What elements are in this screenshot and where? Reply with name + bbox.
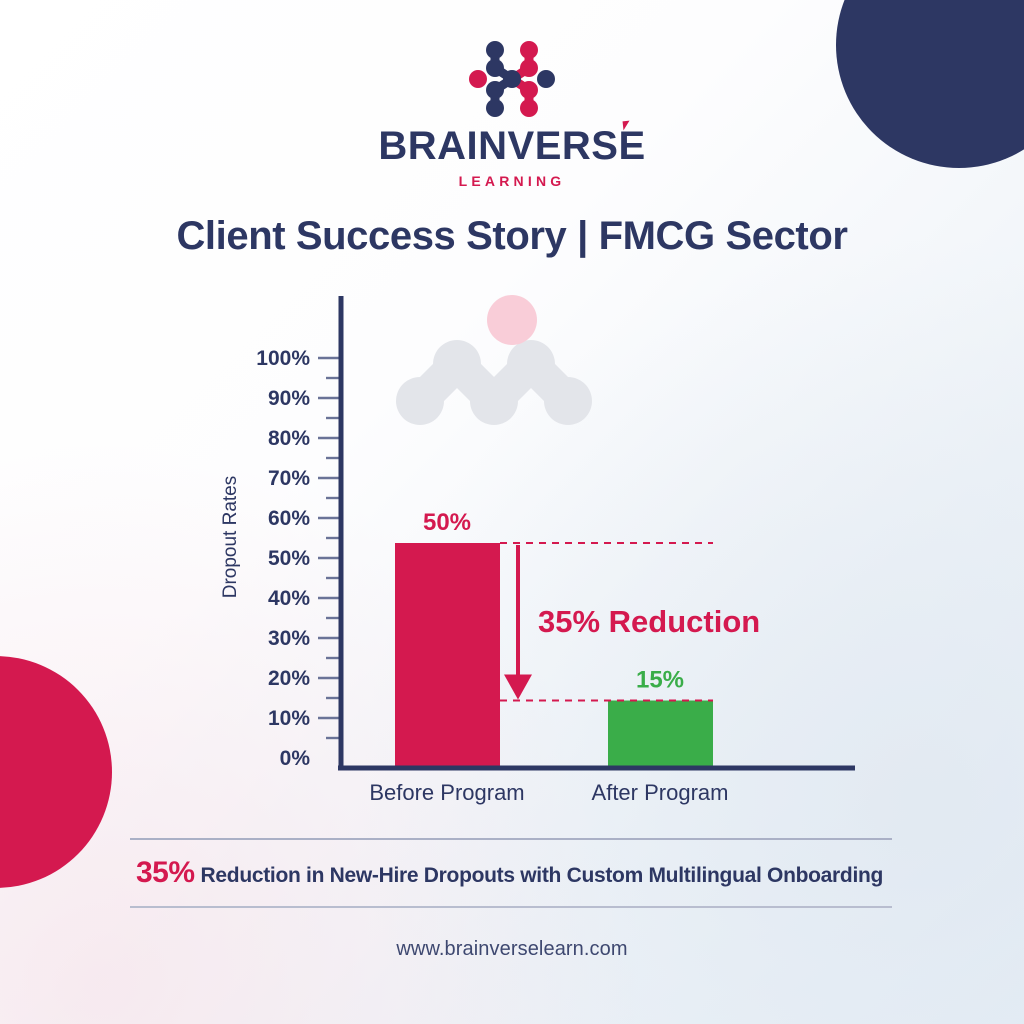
caption-figure: 35%: [136, 856, 195, 890]
reduction-annotation: 35% Reduction: [500, 543, 760, 701]
y-tick-label: 100%: [256, 347, 310, 370]
caption-line: 35% Reduction in New-Hire Dropouts with …: [130, 840, 892, 906]
y-tick-label: 90%: [268, 387, 310, 410]
brand-logo: BRAINVERSE LEARNING: [0, 38, 1024, 189]
y-tick-label: 10%: [268, 707, 310, 730]
bar-chart: Dropout Rates 100% 90% 80% 70% 60% 50% 4…: [0, 282, 1024, 827]
y-tick-label: 0%: [280, 747, 311, 770]
brand-sublabel: LEARNING: [459, 173, 566, 189]
caption-block: 35% Reduction in New-Hire Dropouts with …: [130, 838, 892, 908]
bar-value-label-after: 15%: [636, 667, 684, 694]
poster-canvas: BRAINVERSE LEARNING Client Success Story…: [0, 0, 1024, 1024]
reduction-annotation-label: 35% Reduction: [538, 604, 760, 639]
reduction-arrow-head-icon: [504, 675, 532, 700]
y-tick-label: 70%: [268, 467, 310, 490]
brand-wordmark: BRAINVERSE: [378, 126, 645, 166]
x-tick-label-after: After Program: [592, 780, 729, 805]
y-tick-label: 60%: [268, 507, 310, 530]
caption-divider-bottom: [130, 906, 892, 908]
brand-wordmark-text: BRAINVERSE: [378, 124, 645, 168]
wordmark-accent-tick-icon: [622, 121, 630, 131]
molecule-network-icon: [464, 38, 560, 120]
molecule-chain-watermark-icon: [396, 295, 592, 425]
y-tick-label: 30%: [268, 627, 310, 650]
y-tick-label: 50%: [268, 547, 310, 570]
page-title: Client Success Story | FMCG Sector: [0, 214, 1024, 259]
y-tick-label: 40%: [268, 587, 310, 610]
website-url[interactable]: www.brainverselearn.com: [0, 938, 1024, 961]
bar-value-label-before: 50%: [423, 509, 471, 536]
bar-before-program: [395, 543, 500, 768]
x-tick-label-before: Before Program: [369, 780, 524, 805]
y-axis-label: Dropout Rates: [220, 476, 241, 599]
y-axis-tick-labels: 100% 90% 80% 70% 60% 50% 40% 30% 20% 10%…: [256, 347, 310, 770]
y-tick-label: 20%: [268, 667, 310, 690]
bar-after-program: [608, 701, 713, 769]
caption-text: Reduction in New-Hire Dropouts with Cust…: [201, 864, 884, 888]
y-tick-label: 80%: [268, 427, 310, 450]
